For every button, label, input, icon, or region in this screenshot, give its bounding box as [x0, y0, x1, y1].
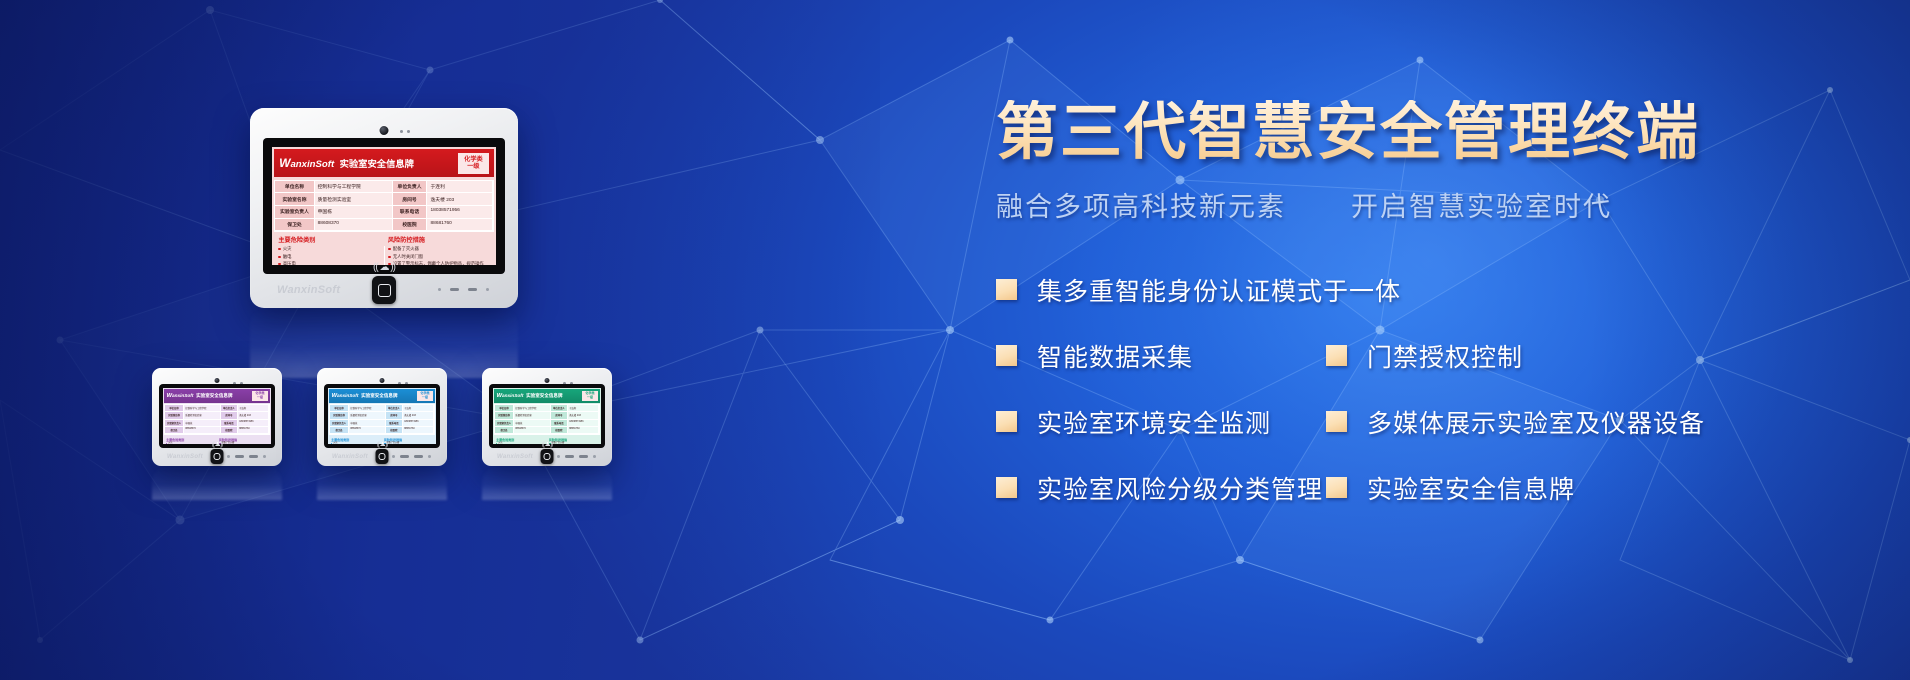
feature-label: 集多重智能身份认证模式于一体	[1037, 272, 1401, 308]
table-label-cell: 单位名称	[495, 405, 514, 412]
table-row: 实验室负责人申国栋联系电话18038571956	[330, 420, 434, 427]
control-list: 配备了灭火器无人时关闭门窗设置了警示标志，佩戴个人防护物品，规范操作危险气体存放…	[548, 442, 600, 444]
sign-title: 实验室安全信息牌	[526, 393, 562, 399]
feature-item-risk-grading[interactable]: 实验室风险分级分类管理	[996, 470, 1326, 506]
control-list: 配备了灭火器无人时关闭门窗设置了警示标志，佩戴个人防护物品，规范操作危险气体存放…	[383, 442, 435, 444]
camera-bar	[324, 377, 440, 384]
front-camera-icon	[380, 126, 389, 135]
front-camera-icon	[545, 378, 550, 383]
hazard-section-title: 主要危险类别	[494, 437, 547, 442]
front-camera-icon	[380, 378, 385, 383]
table-row: 单位名称控制科学与工程学院单位负责人于连利	[495, 405, 599, 412]
feature-row-2: 智能数据采集 门禁授权控制	[996, 338, 1896, 374]
square-bullet-icon	[1326, 345, 1347, 366]
feature-item-env-monitoring[interactable]: 实验室环境安全监测	[996, 404, 1326, 440]
banner-copy: 第三代智慧安全管理终端 融合多项高科技新元素 开启智慧实验室时代 集多重智能身份…	[996, 100, 1896, 536]
sign-header: WanxinSoft实验室安全信息牌化学类一级	[274, 149, 493, 177]
ambient-sensor-icon	[400, 130, 403, 133]
table-value-cell: 逸夫楼 203	[427, 193, 492, 206]
feature-item-data-collection[interactable]: 智能数据采集	[996, 338, 1326, 374]
control-section-title: 风险防控措施	[547, 437, 600, 442]
home-button-icon[interactable]	[376, 449, 389, 464]
hazard-section-title: 主要危险类别	[164, 437, 217, 442]
table-label-cell: 房间号	[386, 412, 403, 419]
list-item: 配备了灭火器	[388, 246, 489, 252]
table-label-cell: 实验室名称	[275, 193, 314, 206]
table-label-cell: 保卫处	[275, 219, 314, 232]
camera-bar	[489, 377, 605, 384]
table-label-cell: 实验室名称	[330, 412, 349, 419]
table-label-cell: 校医院	[221, 427, 238, 434]
bezel-brand-logo: WanxinSoft	[497, 454, 533, 460]
tablet-device-thumb-1[interactable]: WanxinSoft实验室安全信息牌化学类一级单位名称控制科学与工程学院单位负责…	[152, 368, 282, 466]
badge-line-2: 一级	[255, 396, 264, 400]
table-value-cell: 质量检测实验室	[184, 412, 221, 419]
lab-info-table: 单位名称控制科学与工程学院单位负责人于连利实验室名称质量检测实验室房间号逸夫楼 …	[164, 404, 270, 435]
home-button-icon[interactable]	[372, 276, 396, 304]
list-item: 无人时关闭门窗	[388, 254, 489, 260]
table-row: 实验室名称质量检测实验室房间号逸夫楼 203	[165, 412, 269, 419]
sign-title: 实验室安全信息牌	[196, 393, 232, 399]
table-value-cell: 于连利	[403, 405, 434, 412]
feature-row-3: 实验室环境安全监测 多媒体展示实验室及仪器设备	[996, 404, 1896, 440]
hazard-section-title: 主要危险类别	[274, 235, 384, 244]
list-item: 设置了警示标志，佩戴个人防护物品，规范操作	[388, 261, 489, 265]
table-label-cell: 实验室负责人	[495, 420, 514, 427]
tablet-chassis: WanxinSoft实验室安全信息牌化学类一级单位名称控制科学与工程学院单位负责…	[152, 368, 282, 466]
home-button-icon[interactable]	[541, 449, 554, 464]
feature-item-identity[interactable]: 集多重智能身份认证模式于一体	[996, 272, 1401, 308]
list-item: 火灾	[496, 442, 545, 444]
table-label-cell: 联系电话	[393, 206, 428, 219]
camera-bar	[159, 377, 275, 384]
table-row: 实验室负责人申国栋联系电话18038571956	[495, 420, 599, 427]
table-row: 保卫处88608370校医院88681760	[330, 427, 434, 434]
table-row: 实验室名称质量检测实验室房间号逸夫楼 203	[330, 412, 434, 419]
table-label-cell: 单位名称	[165, 405, 184, 412]
table-value-cell: 88681760	[238, 427, 269, 434]
table-value-cell: 逸夫楼 203	[568, 412, 599, 419]
page-title: 第三代智慧安全管理终端	[996, 100, 1896, 167]
control-list: 配备了灭火器无人时关闭门窗设置了警示标志，佩戴个人防护物品，规范操作危险气体存放…	[385, 246, 494, 265]
table-row: 实验室负责人申国栋联系电话18038571956	[275, 206, 492, 219]
list-item-text: 触电	[283, 254, 292, 260]
screen-bezel: WanxinSoft实验室安全信息牌化学类一级单位名称控制科学与工程学院单位负责…	[159, 384, 275, 448]
camera-bar	[263, 125, 505, 138]
lab-safety-sign-screen[interactable]: WanxinSoft实验室安全信息牌化学类一级单位名称控制科学与工程学院单位负责…	[328, 388, 436, 444]
bezel-brand-logo: WanxinSoft	[167, 454, 203, 460]
table-row: 保卫处88608370校医院88681760	[495, 427, 599, 434]
bezel-indicator-dots	[438, 288, 489, 291]
list-item-text: 火灾	[498, 442, 502, 444]
table-value-cell: 18038571956	[403, 420, 434, 427]
feature-row-1: 集多重智能身份认证模式于一体	[996, 272, 1896, 308]
table-row: 单位名称控制科学与工程学院单位负责人于连利	[165, 405, 269, 412]
sign-header: WanxinSoft实验室安全信息牌化学类一级	[494, 389, 600, 403]
list-item: 触电	[278, 254, 379, 260]
square-bullet-icon	[996, 279, 1017, 300]
table-value-cell: 逸夫楼 203	[403, 412, 434, 419]
list-item-text: 配备了灭火器	[222, 442, 235, 444]
list-item: 配备了灭火器	[219, 442, 268, 444]
lab-info-table: 单位名称控制科学与工程学院单位负责人于连利实验室名称质量检测实验室房间号逸夫楼 …	[274, 180, 493, 233]
control-section-title: 风险防控措施	[217, 437, 270, 442]
square-bullet-icon	[996, 345, 1017, 366]
feature-item-access-control[interactable]: 门禁授权控制	[1326, 338, 1523, 374]
table-row: 实验室负责人申国栋联系电话18038571956	[165, 420, 269, 427]
table-label-cell: 保卫处	[495, 427, 514, 434]
bullet-dot-icon	[496, 443, 497, 444]
hazard-list: 火灾触电高压电危险气体（H2、CH4、NO、SO2等）使用引发的爆炸、泄漏、中毒…	[274, 246, 384, 265]
feature-label: 实验室安全信息牌	[1367, 470, 1575, 506]
bezel-brand-logo: WanxinSoft	[277, 284, 340, 296]
table-label-cell: 房间号	[221, 412, 238, 419]
section-headers: 主要危险类别风险防控措施	[274, 235, 493, 244]
feature-label: 实验室风险分级分类管理	[1037, 470, 1323, 506]
table-label-cell: 联系电话	[551, 420, 568, 427]
hazard-list: 火灾触电高压电危险气体（H2、CH4、NO、SO2等）使用引发的爆炸、泄漏、中毒…	[329, 442, 382, 444]
promo-banner: 第三代智慧安全管理终端 融合多项高科技新元素 开启智慧实验室时代 集多重智能身份…	[0, 0, 1910, 680]
tablet-device-thumb-2[interactable]: WanxinSoft实验室安全信息牌化学类一级单位名称控制科学与工程学院单位负责…	[317, 368, 447, 466]
bullet-dot-icon	[166, 443, 167, 444]
nfc-wave-icon: (( ☁ ))	[373, 262, 395, 273]
nfc-wave-icon: (( ☁ ))	[377, 441, 387, 448]
table-value-cell: 88681760	[403, 427, 434, 434]
table-label-cell: 单位负责人	[551, 405, 568, 412]
square-bullet-icon	[1326, 411, 1347, 432]
table-label-cell: 实验室负责人	[330, 420, 349, 427]
lab-safety-sign-screen[interactable]: WanxinSoft实验室安全信息牌化学类一级单位名称控制科学与工程学院单位负责…	[272, 147, 496, 265]
bullet-dot-icon	[331, 443, 332, 444]
table-label-cell: 实验室名称	[495, 412, 514, 419]
hazard-class-badge: 化学类一级	[582, 391, 597, 401]
table-value-cell: 逸夫楼 203	[238, 412, 269, 419]
table-label-cell: 实验室负责人	[275, 206, 314, 219]
table-value-cell: 控制科学与工程学院	[184, 405, 221, 412]
square-bullet-icon	[1326, 477, 1347, 498]
list-item-text: 设置了警示标志，佩戴个人防护物品，规范操作	[393, 261, 484, 265]
control-section-title: 风险防控措施	[384, 235, 494, 244]
bottom-bezel: WanxinSoft(( ☁ ))	[324, 448, 440, 466]
table-value-cell: 质量检测实验室	[315, 193, 393, 206]
list-item-text: 火灾	[168, 442, 172, 444]
tablet-chassis: WanxinSoft实验室安全信息牌化学类一级单位名称控制科学与工程学院单位负责…	[317, 368, 447, 466]
hazard-class-badge: 化学类一级	[458, 153, 489, 173]
table-value-cell: 于连利	[238, 405, 269, 412]
list-item: 高压电	[278, 261, 379, 265]
sign-header: WanxinSoft实验室安全信息牌化学类一级	[164, 389, 270, 403]
table-label-cell: 校医院	[551, 427, 568, 434]
table-label-cell: 实验室名称	[165, 412, 184, 419]
sign-title: 实验室安全信息牌	[340, 156, 414, 170]
table-label-cell: 联系电话	[221, 420, 238, 427]
square-bullet-icon	[996, 411, 1017, 432]
table-label-cell: 单位负责人	[386, 405, 403, 412]
square-bullet-icon	[996, 477, 1017, 498]
tablet-device-main[interactable]: WanxinSoft实验室安全信息牌化学类一级单位名称控制科学与工程学院单位负责…	[250, 108, 518, 308]
table-value-cell: 控制科学与工程学院	[514, 405, 551, 412]
table-label-cell: 校医院	[393, 219, 428, 232]
table-value-cell: 88608370	[349, 427, 386, 434]
bottom-bezel: WanxinSoft(( ☁ ))	[159, 448, 275, 466]
sign-header: WanxinSoft实验室安全信息牌化学类一级	[329, 389, 435, 403]
table-label-cell: 校医院	[386, 427, 403, 434]
hazard-list: 火灾触电高压电危险气体（H2、CH4、NO、SO2等）使用引发的爆炸、泄漏、中毒…	[494, 442, 547, 444]
control-section-title: 风险防控措施	[382, 437, 435, 442]
brand-logo: WanxinSoft	[496, 393, 523, 399]
table-label-cell: 保卫处	[165, 427, 184, 434]
brand-logo: WanxinSoft	[279, 156, 334, 170]
lab-info-table: 单位名称控制科学与工程学院单位负责人于连利实验室名称质量检测实验室房间号逸夫楼 …	[494, 404, 600, 435]
list-item: 火灾	[278, 246, 379, 252]
table-label-cell: 联系电话	[386, 420, 403, 427]
lab-safety-sign-screen[interactable]: WanxinSoft实验室安全信息牌化学类一级单位名称控制科学与工程学院单位负责…	[493, 388, 601, 444]
feature-list: 集多重智能身份认证模式于一体 智能数据采集 门禁授权控制 实验室环境安全监测	[996, 272, 1896, 506]
bottom-bezel: WanxinSoft(( ☁ ))	[489, 448, 605, 466]
lab-safety-sign-screen[interactable]: WanxinSoft实验室安全信息牌化学类一级单位名称控制科学与工程学院单位负责…	[163, 388, 271, 444]
table-row: 实验室名称质量检测实验室房间号逸夫楼 203	[275, 193, 492, 206]
bezel-indicator-dots	[392, 455, 431, 458]
table-label-cell: 房间号	[551, 412, 568, 419]
bottom-bezel: WanxinSoft(( ☁ ))	[263, 274, 505, 308]
table-row: 单位名称控制科学与工程学院单位负责人于连利	[275, 181, 492, 194]
home-button-icon[interactable]	[211, 449, 224, 464]
table-value-cell: 申国栋	[349, 420, 386, 427]
list-item-text: 火灾	[283, 246, 292, 252]
table-value-cell: 控制科学与工程学院	[315, 181, 393, 194]
table-label-cell: 实验室负责人	[165, 420, 184, 427]
table-value-cell: 控制科学与工程学院	[349, 405, 386, 412]
table-value-cell: 申国栋	[184, 420, 221, 427]
list-item-text: 高压电	[283, 261, 296, 265]
hazard-class-badge: 化学类一级	[417, 391, 432, 401]
table-value-cell: 88681760	[427, 219, 492, 232]
feature-item-multimedia[interactable]: 多媒体展示实验室及仪器设备	[1326, 404, 1705, 440]
hazard-list: 火灾触电高压电危险气体（H2、CH4、NO、SO2等）使用引发的爆炸、泄漏、中毒…	[164, 442, 217, 444]
screen-bezel: WanxinSoft实验室安全信息牌化学类一级单位名称控制科学与工程学院单位负责…	[489, 384, 605, 448]
list-item-text: 无人时关闭门窗	[393, 254, 423, 260]
control-list: 配备了灭火器无人时关闭门窗设置了警示标志，佩戴个人防护物品，规范操作危险气体存放…	[218, 442, 270, 444]
tablet-chassis: WanxinSoft实验室安全信息牌化学类一级单位名称控制科学与工程学院单位负责…	[250, 108, 518, 308]
list-item-text: 配备了灭火器	[387, 442, 400, 444]
table-label-cell: 单位名称	[330, 405, 349, 412]
bullet-dot-icon	[278, 248, 280, 250]
list-item: 火灾	[166, 442, 215, 444]
hazard-class-badge: 化学类一级	[252, 391, 267, 401]
feature-label: 门禁授权控制	[1367, 338, 1523, 374]
feature-item-sign-board[interactable]: 实验室安全信息牌	[1326, 470, 1575, 506]
bullet-dot-icon	[388, 256, 390, 258]
table-value-cell: 于连利	[427, 181, 492, 194]
front-camera-icon	[215, 378, 220, 383]
subtitle-left: 融合多项高科技新元素	[996, 192, 1286, 222]
nfc-wave-icon: (( ☁ ))	[212, 441, 222, 448]
table-row: 单位名称控制科学与工程学院单位负责人于连利	[330, 405, 434, 412]
list-item-text: 火灾	[333, 442, 337, 444]
table-value-cell: 88681760	[568, 427, 599, 434]
bezel-indicator-dots	[227, 455, 266, 458]
bullet-dot-icon	[278, 263, 280, 265]
table-value-cell: 88608370	[315, 219, 393, 232]
table-row: 保卫处88608370校医院88681760	[275, 219, 492, 232]
feature-label: 多媒体展示实验室及仪器设备	[1367, 404, 1705, 440]
list-item: 配备了灭火器	[549, 442, 598, 444]
screen-bezel: WanxinSoft实验室安全信息牌化学类一级单位名称控制科学与工程学院单位负责…	[324, 384, 440, 448]
badge-line-2: 一级	[464, 163, 483, 171]
table-label-cell: 保卫处	[330, 427, 349, 434]
table-label-cell: 单位负责人	[221, 405, 238, 412]
badge-line-2: 一级	[420, 396, 429, 400]
list-item: 火灾	[331, 442, 380, 444]
screen-bezel: WanxinSoft实验室安全信息牌化学类一级单位名称控制科学与工程学院单位负责…	[263, 138, 505, 274]
sign-title: 实验室安全信息牌	[361, 393, 397, 399]
tablet-device-thumb-3[interactable]: WanxinSoft实验室安全信息牌化学类一级单位名称控制科学与工程学院单位负责…	[482, 368, 612, 466]
tablet-chassis: WanxinSoft实验室安全信息牌化学类一级单位名称控制科学与工程学院单位负责…	[482, 368, 612, 466]
list-item-text: 配备了灭火器	[552, 442, 565, 444]
page-subtitle: 融合多项高科技新元素 开启智慧实验室时代	[996, 185, 1896, 224]
table-label-cell: 单位名称	[275, 181, 314, 194]
table-value-cell: 质量检测实验室	[349, 412, 386, 419]
nfc-wave-icon: (( ☁ ))	[542, 441, 552, 448]
table-label-cell: 房间号	[393, 193, 428, 206]
table-label-cell: 单位负责人	[393, 181, 428, 194]
feature-label: 实验室环境安全监测	[1037, 404, 1271, 440]
brand-logo: WanxinSoft	[331, 393, 358, 399]
table-value-cell: 质量检测实验室	[514, 412, 551, 419]
table-value-cell: 于连利	[568, 405, 599, 412]
ambient-sensor-icon	[407, 130, 410, 133]
table-value-cell: 18038571956	[238, 420, 269, 427]
table-value-cell: 88608370	[184, 427, 221, 434]
feature-label: 智能数据采集	[1037, 338, 1193, 374]
table-value-cell: 申国栋	[315, 206, 393, 219]
table-row: 保卫处88608370校医院88681760	[165, 427, 269, 434]
table-row: 实验室名称质量检测实验室房间号逸夫楼 203	[495, 412, 599, 419]
bezel-indicator-dots	[557, 455, 596, 458]
lab-info-table: 单位名称控制科学与工程学院单位负责人于连利实验室名称质量检测实验室房间号逸夫楼 …	[329, 404, 435, 435]
list-item: 配备了灭火器	[384, 442, 433, 444]
bezel-brand-logo: WanxinSoft	[332, 454, 368, 460]
bullet-dot-icon	[278, 256, 280, 258]
table-value-cell: 申国栋	[514, 420, 551, 427]
bullet-dot-icon	[388, 248, 390, 250]
hazard-section-title: 主要危险类别	[329, 437, 382, 442]
subtitle-right: 开启智慧实验室时代	[1351, 192, 1612, 222]
feature-row-4: 实验室风险分级分类管理 实验室安全信息牌	[996, 470, 1896, 506]
list-item-text: 配备了灭火器	[393, 246, 419, 252]
table-value-cell: 18038571956	[427, 206, 492, 219]
badge-line-2: 一级	[585, 396, 594, 400]
brand-logo: WanxinSoft	[166, 393, 193, 399]
table-value-cell: 18038571956	[568, 420, 599, 427]
table-value-cell: 88608370	[514, 427, 551, 434]
